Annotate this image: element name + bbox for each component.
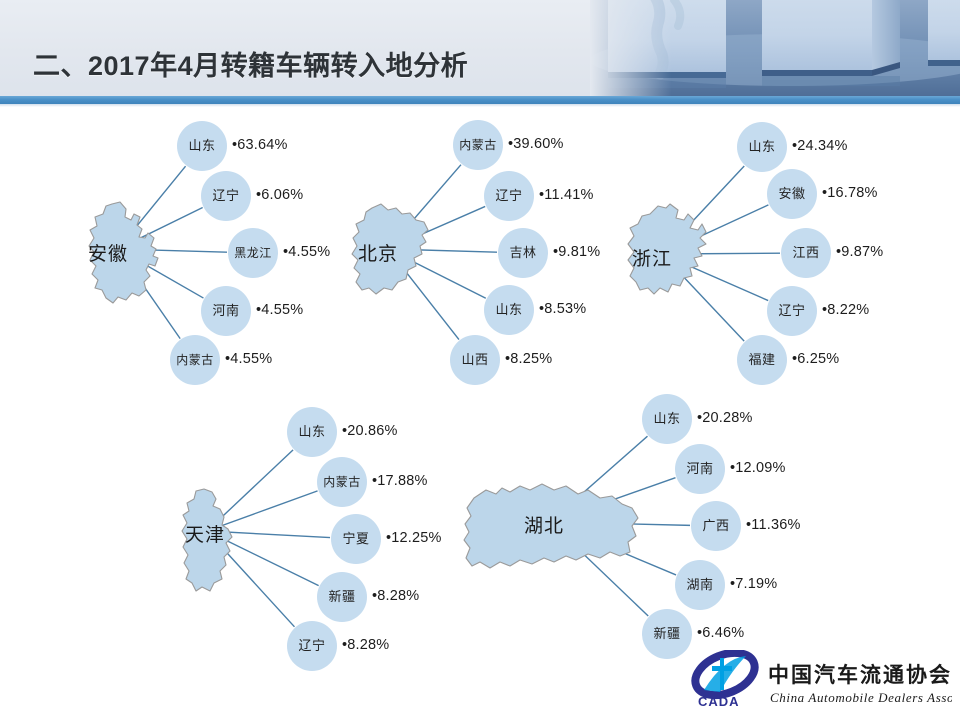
percent-label-tianjin-3: •12.25% (386, 530, 442, 546)
node-label: 新疆 (326, 590, 357, 603)
node-label: 辽宁 (493, 189, 524, 202)
node-label: 辽宁 (296, 639, 327, 652)
node-label: 山西 (459, 353, 490, 366)
node-label: 江西 (790, 246, 821, 259)
percent-label-beijing-1: •39.60% (508, 136, 564, 152)
node-label: 吉林 (507, 246, 538, 259)
node-tianjin-3[interactable]: 宁夏 (331, 514, 381, 564)
node-tianjin-2[interactable]: 内蒙古 (317, 457, 367, 507)
percent-label-beijing-2: •11.41% (539, 187, 594, 203)
slide-header: 二、2017年4月转籍车辆转入地分析 (0, 0, 960, 96)
logo-chinese-name: 中国汽车流通协会 (768, 663, 952, 687)
percent-label-hubei-5: •6.46% (697, 625, 744, 641)
node-label: 河南 (684, 462, 715, 475)
node-label: 安徽 (776, 187, 807, 200)
node-zhejiang-3[interactable]: 江西 (781, 228, 831, 278)
slide: 二、2017年4月转籍车辆转入地分析 安徽 北京 浙江 天津 湖北 (0, 0, 960, 720)
node-label: 福建 (746, 353, 777, 366)
node-label: 辽宁 (776, 304, 807, 317)
node-label: 宁夏 (340, 532, 371, 545)
percent-label-anhui-3: •4.55% (283, 244, 330, 260)
percent-label-tianjin-1: •20.86% (342, 423, 398, 439)
node-label: 山东 (296, 425, 327, 438)
node-anhui-3[interactable]: 黑龙江 (228, 228, 278, 278)
node-label: 河南 (210, 304, 241, 317)
percent-label-beijing-3: •9.81% (553, 244, 600, 260)
node-tianjin-5[interactable]: 辽宁 (287, 621, 337, 671)
header-bar-shadow (0, 104, 960, 107)
node-beijing-5[interactable]: 山西 (450, 335, 500, 385)
logo-english-name: China Automobile Dealers Association (770, 690, 952, 705)
svg-text:CADA: CADA (698, 694, 740, 709)
percent-label-zhejiang-2: •16.78% (822, 185, 878, 201)
node-zhejiang-2[interactable]: 安徽 (767, 169, 817, 219)
node-zhejiang-1[interactable]: 山东 (737, 122, 787, 172)
hub-label-beijing: 北京 (358, 239, 398, 266)
node-label: 山东 (651, 412, 682, 425)
percent-label-zhejiang-1: •24.34% (792, 138, 848, 154)
node-beijing-1[interactable]: 内蒙古 (453, 120, 503, 170)
percent-label-hubei-2: •12.09% (730, 460, 786, 476)
hub-label-zhejiang: 浙江 (632, 244, 672, 271)
percent-label-hubei-3: •11.36% (746, 517, 801, 533)
page-title: 二、2017年4月转籍车辆转入地分析 (33, 44, 468, 83)
glass-cubes-photo-icon (590, 0, 960, 96)
node-anhui-4[interactable]: 河南 (201, 286, 251, 336)
node-label: 内蒙古 (174, 354, 216, 366)
node-label: 黑龙江 (232, 247, 274, 259)
percent-label-zhejiang-4: •8.22% (822, 302, 869, 318)
node-hubei-2[interactable]: 河南 (675, 444, 725, 494)
percent-label-zhejiang-3: •9.87% (836, 244, 883, 260)
node-zhejiang-5[interactable]: 福建 (737, 335, 787, 385)
percent-label-hubei-4: •7.19% (730, 576, 777, 592)
node-tianjin-4[interactable]: 新疆 (317, 572, 367, 622)
node-hubei-3[interactable]: 广西 (691, 501, 741, 551)
node-anhui-1[interactable]: 山东 (177, 121, 227, 171)
node-beijing-2[interactable]: 辽宁 (484, 171, 534, 221)
cada-logo: CADA 中国汽车流通协会 China Automobile Dealers A… (690, 650, 952, 712)
node-zhejiang-4[interactable]: 辽宁 (767, 286, 817, 336)
percent-label-tianjin-4: •8.28% (372, 588, 419, 604)
node-label: 新疆 (651, 627, 682, 640)
node-label: 辽宁 (210, 189, 241, 202)
node-anhui-2[interactable]: 辽宁 (201, 171, 251, 221)
node-label: 山东 (186, 139, 217, 152)
node-tianjin-1[interactable]: 山东 (287, 407, 337, 457)
node-anhui-5[interactable]: 内蒙古 (170, 335, 220, 385)
node-label: 湖南 (684, 578, 715, 591)
cada-swoosh-logo-icon: CADA (690, 650, 761, 709)
node-beijing-4[interactable]: 山东 (484, 285, 534, 335)
percent-label-anhui-4: •4.55% (256, 302, 303, 318)
hub-label-tianjin: 天津 (185, 520, 225, 547)
hub-label-hubei: 湖北 (524, 511, 564, 538)
hub-label-anhui: 安徽 (88, 239, 128, 266)
percent-label-anhui-2: •6.06% (256, 187, 303, 203)
node-label: 广西 (700, 519, 731, 532)
header-accent-bar (0, 96, 960, 104)
percent-label-anhui-5: •4.55% (225, 351, 272, 367)
node-beijing-3[interactable]: 吉林 (498, 228, 548, 278)
node-label: 内蒙古 (457, 139, 499, 151)
percent-label-beijing-4: •8.53% (539, 301, 586, 317)
node-label: 内蒙古 (321, 476, 363, 488)
percent-label-tianjin-5: •8.28% (342, 637, 389, 653)
node-label: 山东 (493, 303, 524, 316)
node-label: 山东 (746, 140, 777, 153)
percent-label-beijing-5: •8.25% (505, 351, 552, 367)
percent-label-hubei-1: •20.28% (697, 410, 753, 426)
percent-label-anhui-1: •63.64% (232, 137, 288, 153)
node-hubei-5[interactable]: 新疆 (642, 609, 692, 659)
percent-label-tianjin-2: •17.88% (372, 473, 428, 489)
node-hubei-1[interactable]: 山东 (642, 394, 692, 444)
node-hubei-4[interactable]: 湖南 (675, 560, 725, 610)
percent-label-zhejiang-5: •6.25% (792, 351, 839, 367)
